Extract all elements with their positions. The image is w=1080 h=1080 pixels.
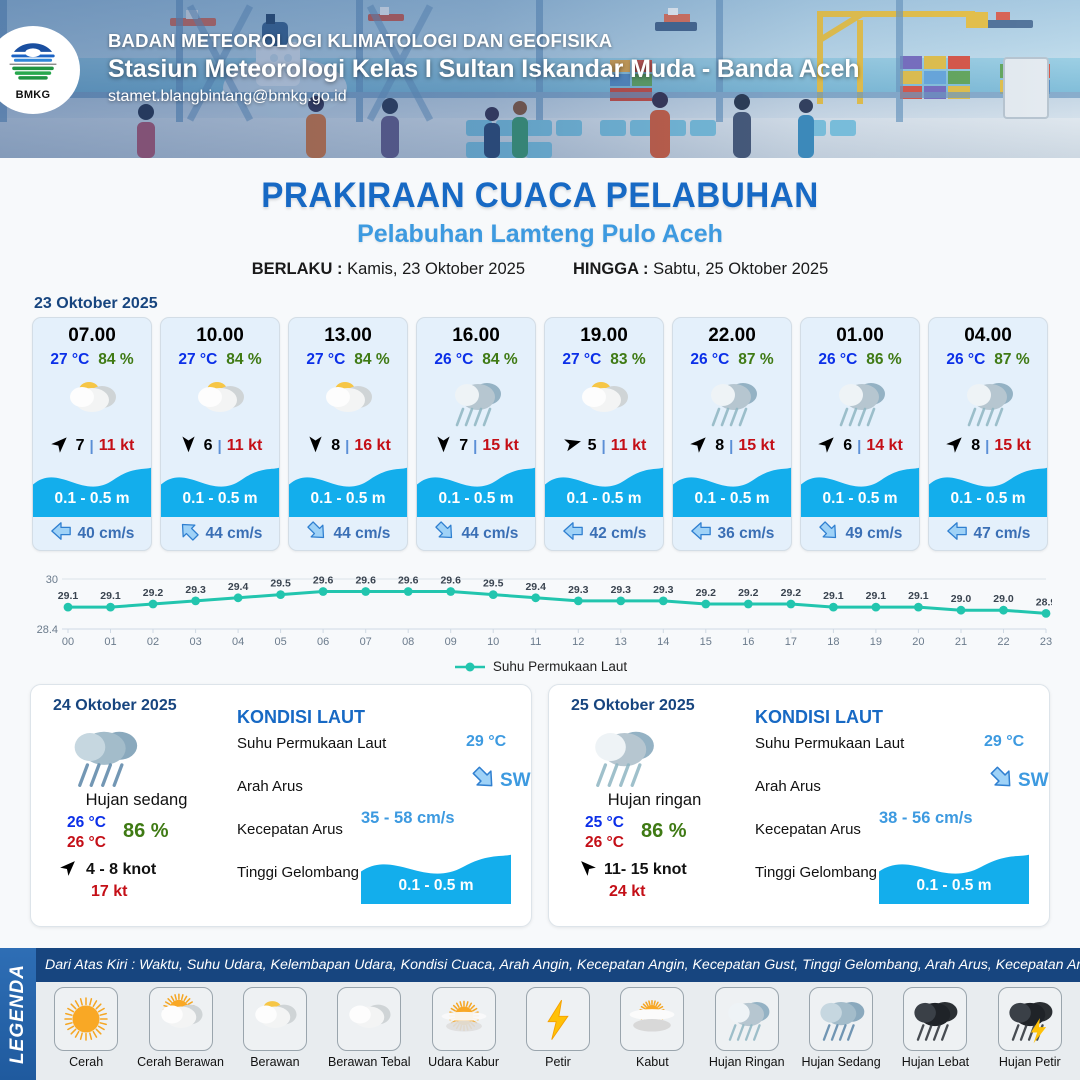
validity-row: BERLAKU : Kamis, 23 Oktober 2025 HINGGA …: [0, 260, 1080, 279]
svg-text:29.1: 29.1: [908, 590, 929, 602]
card-time: 22.00: [673, 318, 791, 347]
card-wind-row: 7 | 11 kt: [33, 431, 151, 461]
legend-item: Hujan Petir: [983, 987, 1077, 1069]
card-separator: |: [90, 438, 94, 455]
legend-item-label: Hujan Ringan: [709, 1055, 785, 1069]
card-wind-row: 8 | 15 kt: [929, 431, 1047, 461]
current-direction-icon: [946, 520, 968, 547]
card-separator: |: [857, 438, 861, 455]
day-temp-min: 26 °C: [67, 813, 106, 833]
legend-item-row: Cerah Cerah Berawan Berawan Berawan Teba…: [36, 982, 1080, 1080]
bmkg-logo-icon: [7, 40, 59, 88]
legend-item-label: Cerah Berawan: [137, 1055, 224, 1069]
card-separator: |: [729, 438, 733, 455]
card-time: 01.00: [801, 318, 919, 347]
card-current-speed: 42 cm/s: [590, 525, 647, 543]
day-current-direction-label: SW: [1018, 770, 1049, 792]
card-temp-humidity: 27 °C 84 %: [33, 351, 151, 369]
current-direction-icon: [50, 520, 72, 547]
card-wave-height: 0.1 - 0.5 m: [33, 490, 151, 508]
berawan-tebal-icon: [337, 987, 401, 1051]
card-temperature: 27 °C: [178, 351, 217, 369]
card-temp-humidity: 27 °C 84 %: [161, 351, 279, 369]
wind-direction-icon: [945, 433, 966, 459]
card-current-row: 47 cm/s: [929, 517, 1047, 550]
chart-legend-label: Suhu Permukaan Laut: [493, 659, 627, 674]
hujan-lebat-icon: [903, 987, 967, 1051]
card-separator: |: [218, 438, 222, 455]
svg-text:09: 09: [445, 636, 457, 648]
svg-text:15: 15: [700, 636, 712, 648]
card-current-row: 40 cm/s: [33, 517, 151, 550]
legend-item: Hujan Lebat: [888, 987, 982, 1069]
hujan-ringan-icon: [585, 719, 659, 798]
card-current-speed: 49 cm/s: [846, 525, 903, 543]
svg-text:18: 18: [827, 636, 839, 648]
card-wave-height: 0.1 - 0.5 m: [801, 490, 919, 508]
berawan-icon: [243, 987, 307, 1051]
sst-chart: 3028.429.10029.10129.20229.30329.40429.5…: [28, 565, 1052, 657]
card-temperature: 27 °C: [306, 351, 345, 369]
card-current-speed: 36 cm/s: [718, 525, 775, 543]
card-humidity: 84 %: [98, 351, 133, 369]
legend-note-text: Dari Atas Kiri : Waktu, Suhu Udara, Kele…: [36, 957, 1080, 973]
day-wind-range: 4 - 8 knot: [86, 861, 156, 879]
legend-item-label: Kabut: [636, 1055, 669, 1069]
svg-text:14: 14: [657, 636, 669, 648]
svg-text:12: 12: [572, 636, 584, 648]
cerah-berawan-icon: [149, 987, 213, 1051]
svg-text:29.1: 29.1: [100, 590, 121, 602]
svg-text:29.5: 29.5: [483, 578, 504, 590]
card-current-row: 49 cm/s: [801, 517, 919, 550]
card-wind-speed: 7: [459, 437, 468, 455]
hujan-ringan-icon: [801, 371, 919, 433]
wind-direction-icon: [817, 433, 838, 459]
agency-name: BADAN METEOROLOGI KLIMATOLOGI DAN GEOFIS…: [108, 30, 859, 52]
forecast-card: 04.00 26 °C 87 % 8 | 15 kt 0.1 - 0.5 m: [928, 317, 1048, 551]
legend-item: Berawan: [228, 987, 322, 1069]
chart-legend-marker: [453, 661, 487, 673]
wind-direction-icon: [305, 433, 326, 459]
current-direction-icon: [434, 520, 456, 547]
legend-item-label: Hujan Petir: [999, 1055, 1061, 1069]
card-separator: |: [985, 438, 989, 455]
card-temperature: 26 °C: [818, 351, 857, 369]
card-wind-row: 6 | 11 kt: [161, 431, 279, 461]
legend-side-label: LEGENDA: [0, 948, 36, 1080]
card-temp-humidity: 26 °C 87 %: [673, 351, 791, 369]
svg-text:29.3: 29.3: [568, 584, 589, 596]
svg-text:29.1: 29.1: [866, 590, 887, 602]
legend-footer: LEGENDA Dari Atas Kiri : Waktu, Suhu Uda…: [0, 948, 1080, 1080]
day-current-direction: SW: [471, 765, 531, 797]
svg-text:29.6: 29.6: [398, 575, 419, 587]
card-current-row: 36 cm/s: [673, 517, 791, 550]
svg-text:29.1: 29.1: [58, 590, 79, 602]
svg-text:22: 22: [997, 636, 1009, 648]
card-wind-speed: 8: [331, 437, 340, 455]
day-sst-value: 29 °C: [466, 733, 506, 751]
day-current-direction-label: SW: [500, 770, 531, 792]
forecast-card: 19.00 27 °C 83 % 5 | 11 kt 0.1 - 0.5 m 4…: [544, 317, 664, 551]
day-current-speed: 35 - 58 cm/s: [361, 809, 455, 828]
wind-direction-icon: [50, 433, 71, 459]
card-wind-row: 7 | 15 kt: [417, 431, 535, 461]
svg-text:29.6: 29.6: [440, 575, 461, 587]
card-temp-humidity: 26 °C 86 %: [801, 351, 919, 369]
card-wave-band: 0.1 - 0.5 m: [545, 461, 663, 517]
wind-direction-icon: [562, 433, 583, 459]
svg-text:03: 03: [189, 636, 201, 648]
svg-text:29.2: 29.2: [738, 587, 759, 599]
legend-item-label: Petir: [545, 1055, 571, 1069]
day-gust: 24 kt: [609, 883, 645, 901]
day-humidity: 86 %: [641, 820, 687, 843]
hujan-sedang-icon: [67, 719, 141, 798]
wind-direction-icon: [689, 433, 710, 459]
card-wave-height: 0.1 - 0.5 m: [673, 490, 791, 508]
card-current-speed: 44 cm/s: [462, 525, 519, 543]
card-humidity: 84 %: [354, 351, 389, 369]
svg-text:29.5: 29.5: [270, 578, 291, 590]
svg-text:29.0: 29.0: [951, 593, 972, 605]
svg-text:29.6: 29.6: [313, 575, 334, 587]
card-wind-speed: 6: [843, 437, 852, 455]
card-temp-humidity: 27 °C 83 %: [545, 351, 663, 369]
day-humidity: 86 %: [123, 820, 169, 843]
hujan-ringan-icon: [929, 371, 1047, 433]
forecast-date-label: 23 Oktober 2025: [34, 295, 1080, 313]
bmkg-logo-text: BMKG: [16, 89, 51, 101]
card-wave-height: 0.1 - 0.5 m: [417, 490, 535, 508]
card-current-speed: 47 cm/s: [974, 525, 1031, 543]
card-wind-row: 6 | 14 kt: [801, 431, 919, 461]
card-humidity: 86 %: [866, 351, 901, 369]
cerah-icon: [54, 987, 118, 1051]
forecast-card: 07.00 27 °C 84 % 7 | 11 kt 0.1 - 0.5 m 4…: [32, 317, 152, 551]
hujan-ringan-icon: [673, 371, 791, 433]
current-direction-icon: [471, 765, 497, 797]
udara-kabur-icon: [432, 987, 496, 1051]
legend-item-label: Berawan Tebal: [328, 1055, 410, 1069]
svg-text:29.1: 29.1: [823, 590, 844, 602]
current-direction-icon: [178, 520, 200, 547]
day-date: 25 Oktober 2025: [571, 697, 695, 715]
day-current-speed: 38 - 56 cm/s: [879, 809, 973, 828]
berlaku-value: Kamis, 23 Oktober 2025: [347, 260, 525, 278]
legend-side-text: LEGENDA: [7, 964, 29, 1064]
daily-panel-row: 24 Oktober 2025 Hujan sedang 26 °C 26 °C…: [0, 674, 1080, 927]
day-temp-max: 26 °C: [585, 833, 624, 853]
svg-text:29.6: 29.6: [355, 575, 376, 587]
day-sst-value: 29 °C: [984, 733, 1024, 751]
svg-text:20: 20: [912, 636, 924, 648]
svg-text:29.3: 29.3: [185, 584, 206, 596]
card-time: 13.00: [289, 318, 407, 347]
card-wind-row: 8 | 15 kt: [673, 431, 791, 461]
hujan-ringan-icon: [715, 987, 779, 1051]
card-wind-speed: 8: [715, 437, 724, 455]
berawan-icon: [545, 371, 663, 433]
svg-text:16: 16: [742, 636, 754, 648]
svg-text:28.9: 28.9: [1036, 596, 1052, 608]
svg-text:05: 05: [274, 636, 286, 648]
svg-text:02: 02: [147, 636, 159, 648]
card-current-speed: 44 cm/s: [334, 525, 391, 543]
wind-direction-icon: [433, 433, 454, 459]
day-wind-range: 11- 15 knot: [604, 861, 687, 879]
card-wave-band: 0.1 - 0.5 m: [161, 461, 279, 517]
card-wave-band: 0.1 - 0.5 m: [929, 461, 1047, 517]
petir-icon: [526, 987, 590, 1051]
forecast-card-row: 07.00 27 °C 84 % 7 | 11 kt 0.1 - 0.5 m 4…: [0, 317, 1080, 551]
legend-item: Petir: [511, 987, 605, 1069]
legend-item-label: Hujan Lebat: [902, 1055, 969, 1069]
card-wind-speed: 6: [204, 437, 213, 455]
day-wave-band: 0.1 - 0.5 m: [879, 852, 1029, 904]
card-temperature: 27 °C: [50, 351, 89, 369]
svg-text:29.3: 29.3: [653, 584, 674, 596]
legend-item-label: Hujan Sedang: [801, 1055, 880, 1069]
card-time: 19.00: [545, 318, 663, 347]
forecast-card: 22.00 26 °C 87 % 8 | 15 kt 0.1 - 0.5 m: [672, 317, 792, 551]
svg-text:29.4: 29.4: [525, 581, 546, 593]
current-direction-icon: [306, 520, 328, 547]
day-wave-height: 0.1 - 0.5 m: [879, 877, 1029, 895]
svg-text:23: 23: [1040, 636, 1052, 648]
page-subtitle: Pelabuhan Lamteng Pulo Aceh: [0, 220, 1080, 249]
card-current-speed: 44 cm/s: [206, 525, 263, 543]
legend-item: Hujan Ringan: [700, 987, 794, 1069]
card-gust: 11 kt: [611, 437, 647, 455]
current-direction-icon: [562, 520, 584, 547]
wind-direction-icon: [178, 433, 199, 459]
wind-direction-icon: [577, 857, 597, 882]
day-date: 24 Oktober 2025: [53, 697, 177, 715]
hingga-value: Sabtu, 25 Oktober 2025: [653, 260, 828, 278]
card-humidity: 84 %: [482, 351, 517, 369]
svg-text:04: 04: [232, 636, 244, 648]
card-temp-humidity: 26 °C 84 %: [417, 351, 535, 369]
svg-text:28.4: 28.4: [37, 624, 58, 636]
card-temperature: 26 °C: [690, 351, 729, 369]
day-wave-band: 0.1 - 0.5 m: [361, 852, 511, 904]
hujan-sedang-icon: [809, 987, 873, 1051]
daily-forecast-panel: 24 Oktober 2025 Hujan sedang 26 °C 26 °C…: [30, 684, 532, 927]
hujan-petir-icon: [998, 987, 1062, 1051]
card-wind-row: 5 | 11 kt: [545, 431, 663, 461]
card-temperature: 26 °C: [946, 351, 985, 369]
card-separator: |: [473, 438, 477, 455]
legend-item-label: Cerah: [69, 1055, 103, 1069]
card-wave-height: 0.1 - 0.5 m: [289, 490, 407, 508]
svg-text:10: 10: [487, 636, 499, 648]
card-time: 10.00: [161, 318, 279, 347]
legend-item: Cerah: [39, 987, 133, 1069]
berawan-icon: [161, 371, 279, 433]
card-humidity: 83 %: [610, 351, 645, 369]
current-direction-icon: [690, 520, 712, 547]
svg-text:13: 13: [615, 636, 627, 648]
berlaku-group: BERLAKU : Kamis, 23 Oktober 2025: [252, 260, 525, 279]
svg-text:30: 30: [46, 574, 58, 586]
card-wind-speed: 8: [971, 437, 980, 455]
day-temp-min: 25 °C: [585, 813, 624, 833]
day-current-direction: SW: [989, 765, 1049, 797]
legend-item-label: Berawan: [250, 1055, 299, 1069]
card-temp-humidity: 26 °C 87 %: [929, 351, 1047, 369]
legend-item: Udara Kabur: [416, 987, 510, 1069]
berawan-icon: [33, 371, 151, 433]
card-separator: |: [345, 438, 349, 455]
svg-text:17: 17: [785, 636, 797, 648]
svg-text:19: 19: [870, 636, 882, 648]
card-time: 04.00: [929, 318, 1047, 347]
card-time: 16.00: [417, 318, 535, 347]
card-current-speed: 40 cm/s: [78, 525, 135, 543]
hujan-ringan-icon: [417, 371, 535, 433]
wind-direction-icon: [59, 857, 79, 882]
svg-text:29.0: 29.0: [993, 593, 1014, 605]
berlaku-label: BERLAKU :: [252, 260, 343, 278]
svg-text:29.2: 29.2: [696, 587, 717, 599]
day-wind-row: 4 - 8 knot: [59, 857, 156, 882]
card-humidity: 87 %: [738, 351, 773, 369]
current-direction-icon: [989, 765, 1015, 797]
legend-item: Hujan Sedang: [794, 987, 888, 1069]
svg-text:08: 08: [402, 636, 414, 648]
legend-note-bar: Dari Atas Kiri : Waktu, Suhu Udara, Kele…: [36, 948, 1080, 982]
svg-text:29.4: 29.4: [228, 581, 249, 593]
hingga-label: HINGGA :: [573, 260, 648, 278]
card-wave-band: 0.1 - 0.5 m: [673, 461, 791, 517]
day-temp-max: 26 °C: [67, 833, 106, 853]
card-temperature: 27 °C: [562, 351, 601, 369]
card-wave-height: 0.1 - 0.5 m: [929, 490, 1047, 508]
card-wave-band: 0.1 - 0.5 m: [801, 461, 919, 517]
day-wind-row: 11- 15 knot: [577, 857, 687, 882]
hingga-group: HINGGA : Sabtu, 25 Oktober 2025: [573, 260, 828, 279]
svg-text:21: 21: [955, 636, 967, 648]
day-gust: 17 kt: [91, 883, 127, 901]
day-wave-height: 0.1 - 0.5 m: [361, 877, 511, 895]
legend-item: Cerah Berawan: [133, 987, 227, 1069]
card-temperature: 26 °C: [434, 351, 473, 369]
day-condition: Hujan ringan: [567, 791, 742, 810]
svg-text:11: 11: [530, 636, 541, 648]
forecast-card: 10.00 27 °C 84 % 6 | 11 kt 0.1 - 0.5 m 4…: [160, 317, 280, 551]
card-wave-band: 0.1 - 0.5 m: [289, 461, 407, 517]
forecast-card: 16.00 26 °C 84 % 7 | 15 kt 0.1 - 0.5 m: [416, 317, 536, 551]
svg-text:29.3: 29.3: [611, 584, 632, 596]
legend-item: Kabut: [605, 987, 699, 1069]
page-title: PRAKIRAAN CUACA PELABUHAN: [27, 176, 1053, 216]
day-temperatures: 26 °C 26 °C: [67, 813, 106, 854]
forecast-card: 13.00 27 °C 84 % 8 | 16 kt 0.1 - 0.5 m 4…: [288, 317, 408, 551]
card-humidity: 87 %: [994, 351, 1029, 369]
card-gust: 15 kt: [738, 437, 774, 455]
forecast-card: 01.00 26 °C 86 % 6 | 14 kt 0.1 - 0.5 m: [800, 317, 920, 551]
card-gust: 14 kt: [866, 437, 902, 455]
svg-text:00: 00: [62, 636, 74, 648]
card-gust: 15 kt: [482, 437, 518, 455]
card-wave-height: 0.1 - 0.5 m: [545, 490, 663, 508]
card-gust: 15 kt: [994, 437, 1030, 455]
current-direction-icon: [818, 520, 840, 547]
card-wave-height: 0.1 - 0.5 m: [161, 490, 279, 508]
svg-text:29.2: 29.2: [781, 587, 802, 599]
sea-conditions-title: KONDISI LAUT: [237, 707, 365, 728]
card-wind-speed: 7: [76, 437, 85, 455]
kabut-icon: [620, 987, 684, 1051]
card-gust: 11 kt: [99, 437, 135, 455]
card-current-row: 44 cm/s: [161, 517, 279, 550]
card-wave-band: 0.1 - 0.5 m: [417, 461, 535, 517]
day-condition: Hujan sedang: [49, 791, 224, 810]
page-header: BMKG BADAN METEOROLOGI KLIMATOLOGI DAN G…: [0, 0, 1080, 158]
legend-item-label: Udara Kabur: [428, 1055, 499, 1069]
station-name: Stasiun Meteorologi Kelas I Sultan Iskan…: [108, 55, 859, 84]
station-email: stamet.blangbintang@bmkg.go.id: [108, 88, 859, 106]
card-separator: |: [602, 438, 606, 455]
card-humidity: 84 %: [226, 351, 261, 369]
svg-text:29.2: 29.2: [143, 587, 164, 599]
berawan-icon: [289, 371, 407, 433]
card-wind-row: 8 | 16 kt: [289, 431, 407, 461]
card-wind-speed: 5: [588, 437, 597, 455]
legend-item: Berawan Tebal: [322, 987, 416, 1069]
card-gust: 11 kt: [227, 437, 263, 455]
svg-text:07: 07: [360, 636, 372, 648]
card-current-row: 42 cm/s: [545, 517, 663, 550]
card-wave-band: 0.1 - 0.5 m: [33, 461, 151, 517]
card-current-row: 44 cm/s: [417, 517, 535, 550]
svg-text:06: 06: [317, 636, 329, 648]
chart-legend: Suhu Permukaan Laut: [0, 659, 1080, 674]
card-time: 07.00: [33, 318, 151, 347]
day-temperatures: 25 °C 26 °C: [585, 813, 624, 854]
svg-text:01: 01: [104, 636, 116, 648]
sea-conditions-title: KONDISI LAUT: [755, 707, 883, 728]
daily-forecast-panel: 25 Oktober 2025 Hujan ringan 25 °C 26 °C…: [548, 684, 1050, 927]
card-temp-humidity: 27 °C 84 %: [289, 351, 407, 369]
card-gust: 16 kt: [354, 437, 390, 455]
card-current-row: 44 cm/s: [289, 517, 407, 550]
